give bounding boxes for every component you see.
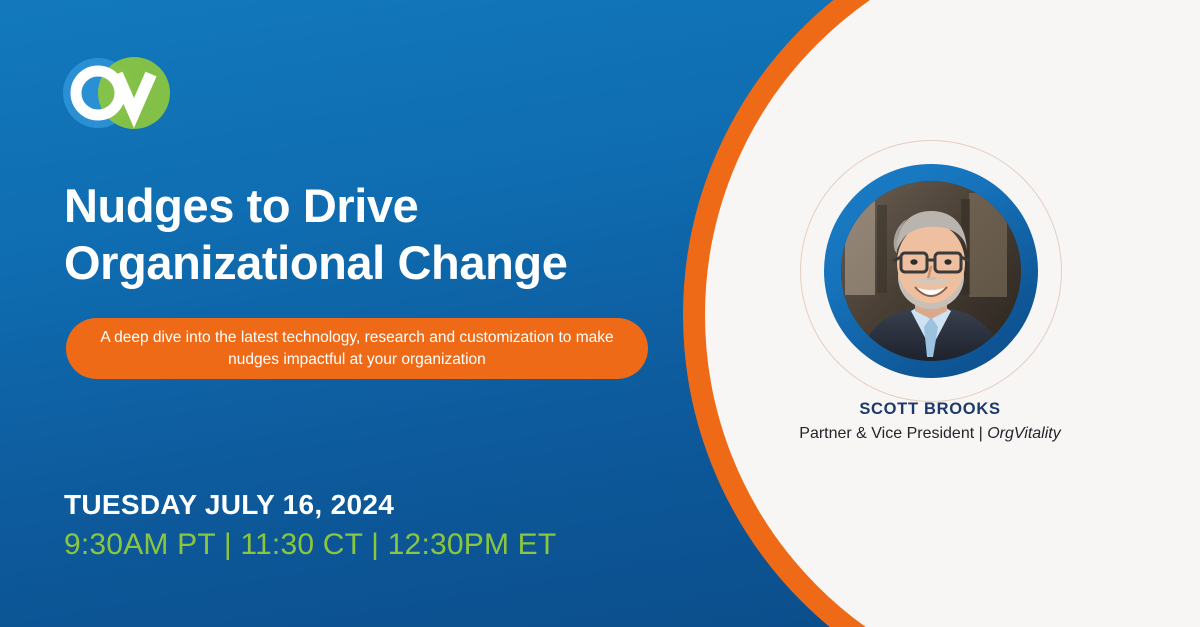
event-date: TUESDAY JULY 16, 2024 bbox=[64, 489, 394, 521]
speaker-name: SCOTT BROOKS bbox=[760, 400, 1100, 419]
speaker-photo bbox=[841, 181, 1021, 361]
subtitle-text: A deep dive into the latest technology, … bbox=[90, 327, 624, 371]
page-title: Nudges to Drive Organizational Change bbox=[64, 178, 684, 292]
subtitle-pill: A deep dive into the latest technology, … bbox=[66, 318, 648, 379]
logo-mark bbox=[62, 57, 172, 130]
subtitle-line-1: A deep dive into the latest technology, … bbox=[100, 329, 554, 346]
speaker-organization: OrgVitality bbox=[987, 425, 1061, 442]
title-line-1: Nudges to Drive bbox=[64, 179, 418, 232]
speaker-role-text: Partner & Vice President | bbox=[799, 425, 987, 442]
headshot-illustration bbox=[841, 181, 1021, 361]
webinar-promo-poster: Nudges to Drive Organizational Change A … bbox=[0, 0, 1200, 627]
speaker-role: Partner & Vice President | OrgVitality bbox=[740, 425, 1120, 443]
title-line-2: Organizational Change bbox=[64, 235, 684, 292]
event-times: 9:30AM PT | 11:30 CT | 12:30PM ET bbox=[64, 528, 556, 562]
speaker-avatar bbox=[800, 140, 1062, 402]
orgvitality-logo[interactable] bbox=[62, 57, 172, 130]
